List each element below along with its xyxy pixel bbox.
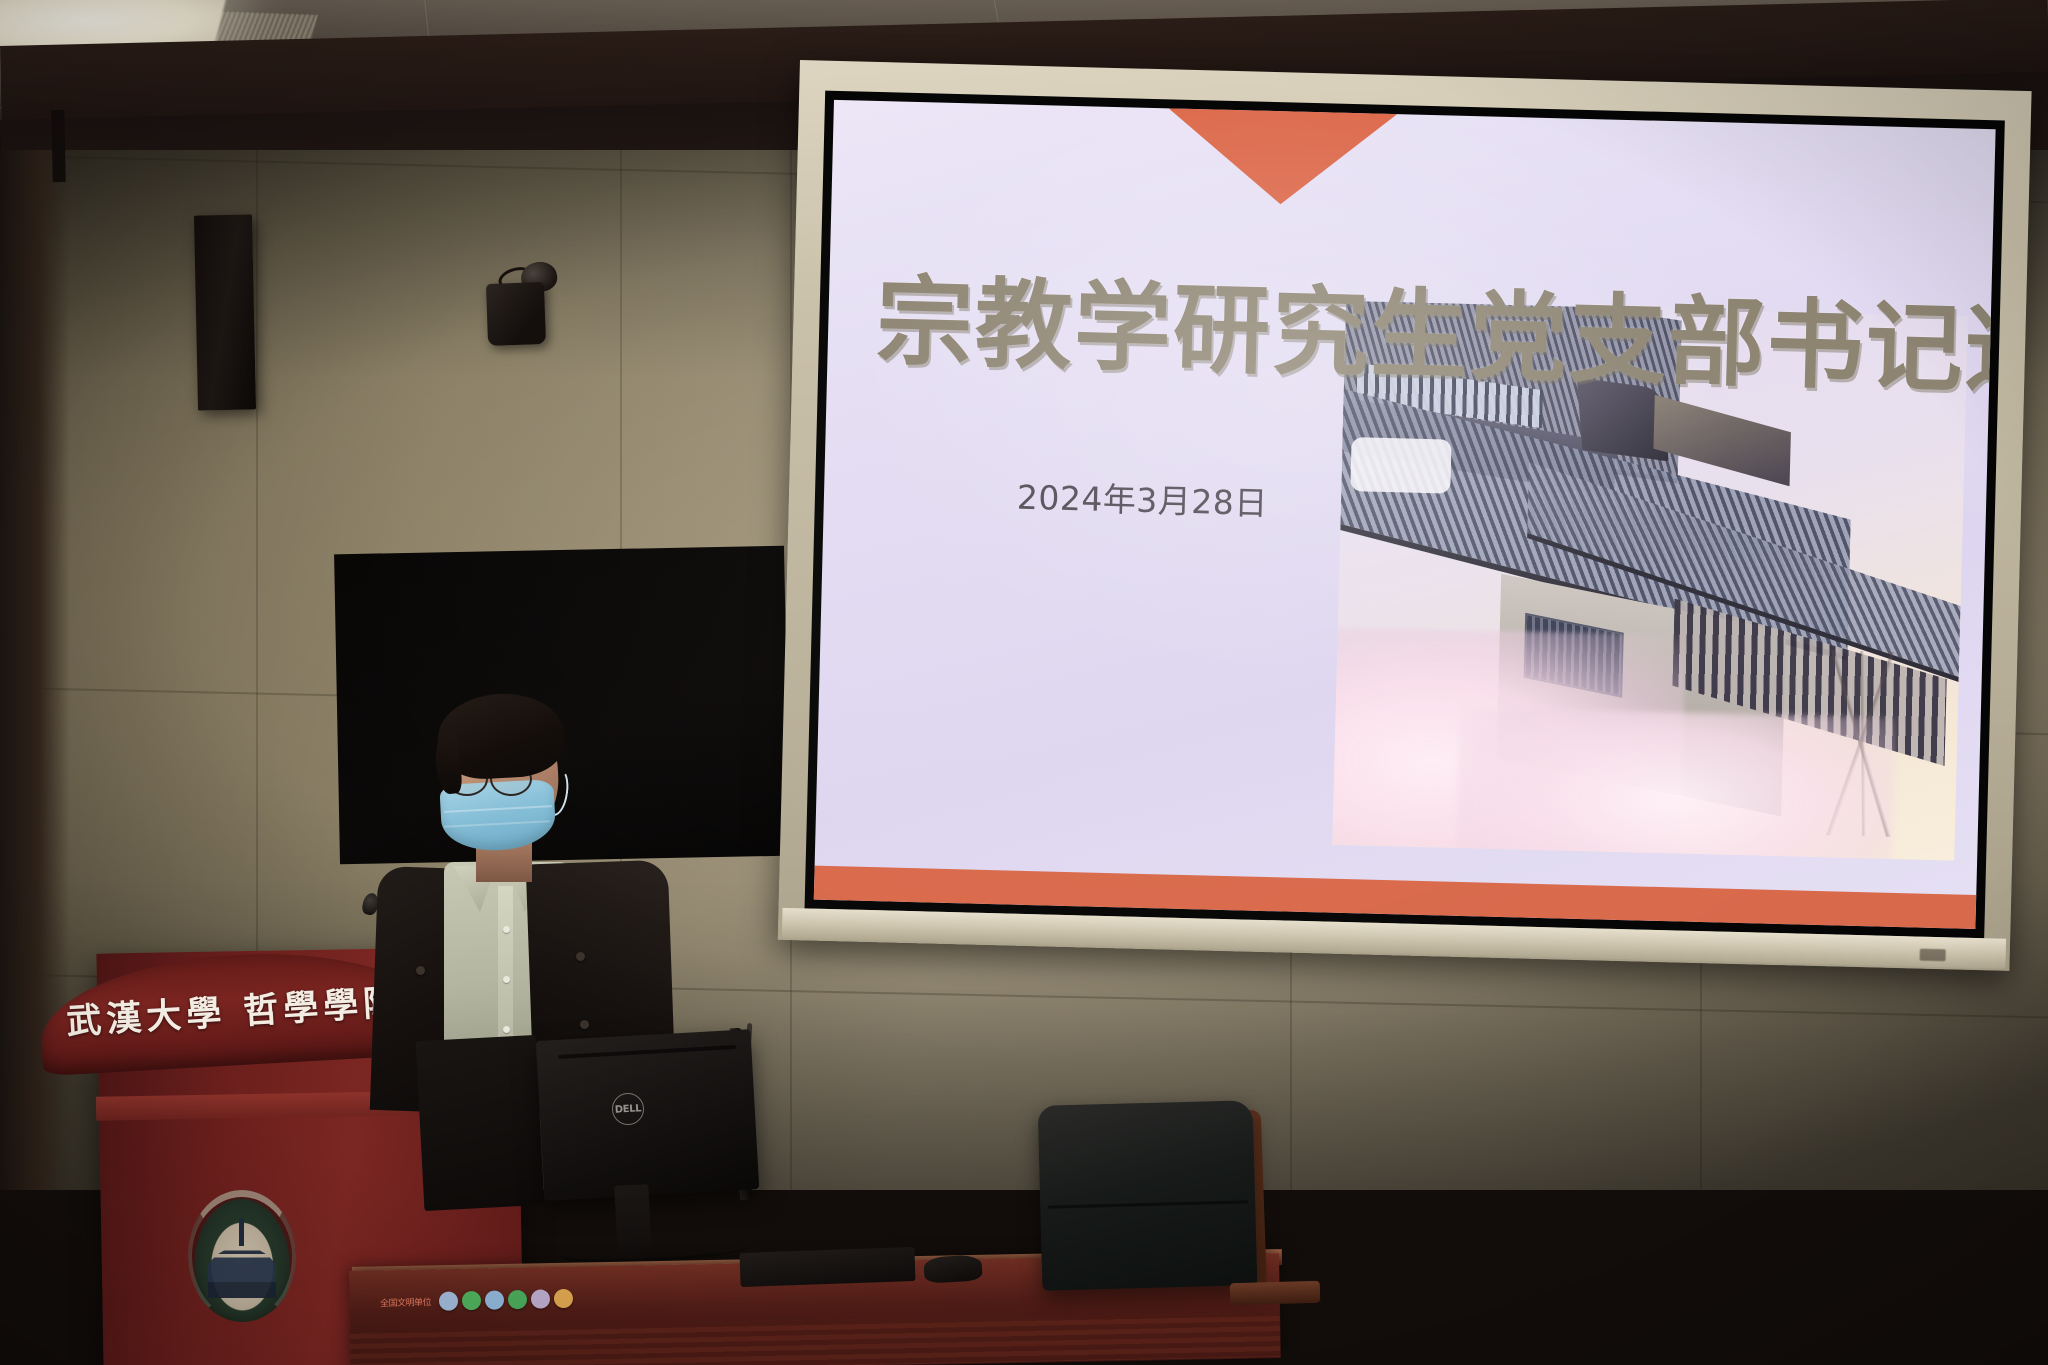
photo-overlay-tag xyxy=(1351,437,1452,494)
desk-sticker xyxy=(439,1291,458,1310)
desk-sticker xyxy=(462,1291,481,1310)
desk-sticker xyxy=(508,1290,527,1309)
slide-accent-triangle xyxy=(1163,105,1401,207)
desk-sticker xyxy=(485,1290,504,1309)
jacket-button xyxy=(416,966,425,975)
screen-bezel: 宗教学研究生党支部书记述职 2024年3月28日 xyxy=(805,91,2005,939)
wall-speaker xyxy=(194,214,256,410)
projection-screen: 宗教学研究生党支部书记述职 2024年3月28日 xyxy=(778,60,2032,971)
wall-speaker-bracket xyxy=(51,110,66,182)
wall-camera xyxy=(486,282,546,346)
photo-cherry-blossoms xyxy=(1455,706,1895,860)
lecture-hall-scene: 宗教学研究生党支部书记述职 2024年3月28日 武漢大學 哲學學院 xyxy=(0,0,2048,1365)
shirt-button xyxy=(503,1026,510,1033)
auxiliary-screen xyxy=(416,1035,545,1211)
jacket-button xyxy=(576,952,585,961)
mouse[interactable] xyxy=(923,1255,982,1284)
desk-sticker xyxy=(531,1289,550,1308)
screen-brand-logo xyxy=(1920,949,1946,962)
desk-sticker-label: 全国文明单位 xyxy=(380,1295,431,1309)
chair-armrest xyxy=(1230,1281,1321,1305)
presentation-slide: 宗教学研究生党支部书记述职 2024年3月28日 xyxy=(814,100,1996,929)
slide-title: 宗教学研究生党支部书记述职 xyxy=(875,273,1969,398)
shirt-button xyxy=(503,976,510,983)
office-chair xyxy=(1038,1100,1258,1291)
jacket-button xyxy=(580,1020,589,1029)
desk-sticker xyxy=(554,1289,573,1308)
keyboard[interactable] xyxy=(739,1247,915,1287)
shirt-button xyxy=(503,926,510,933)
slide-date: 2024年3月28日 xyxy=(1016,471,1268,525)
